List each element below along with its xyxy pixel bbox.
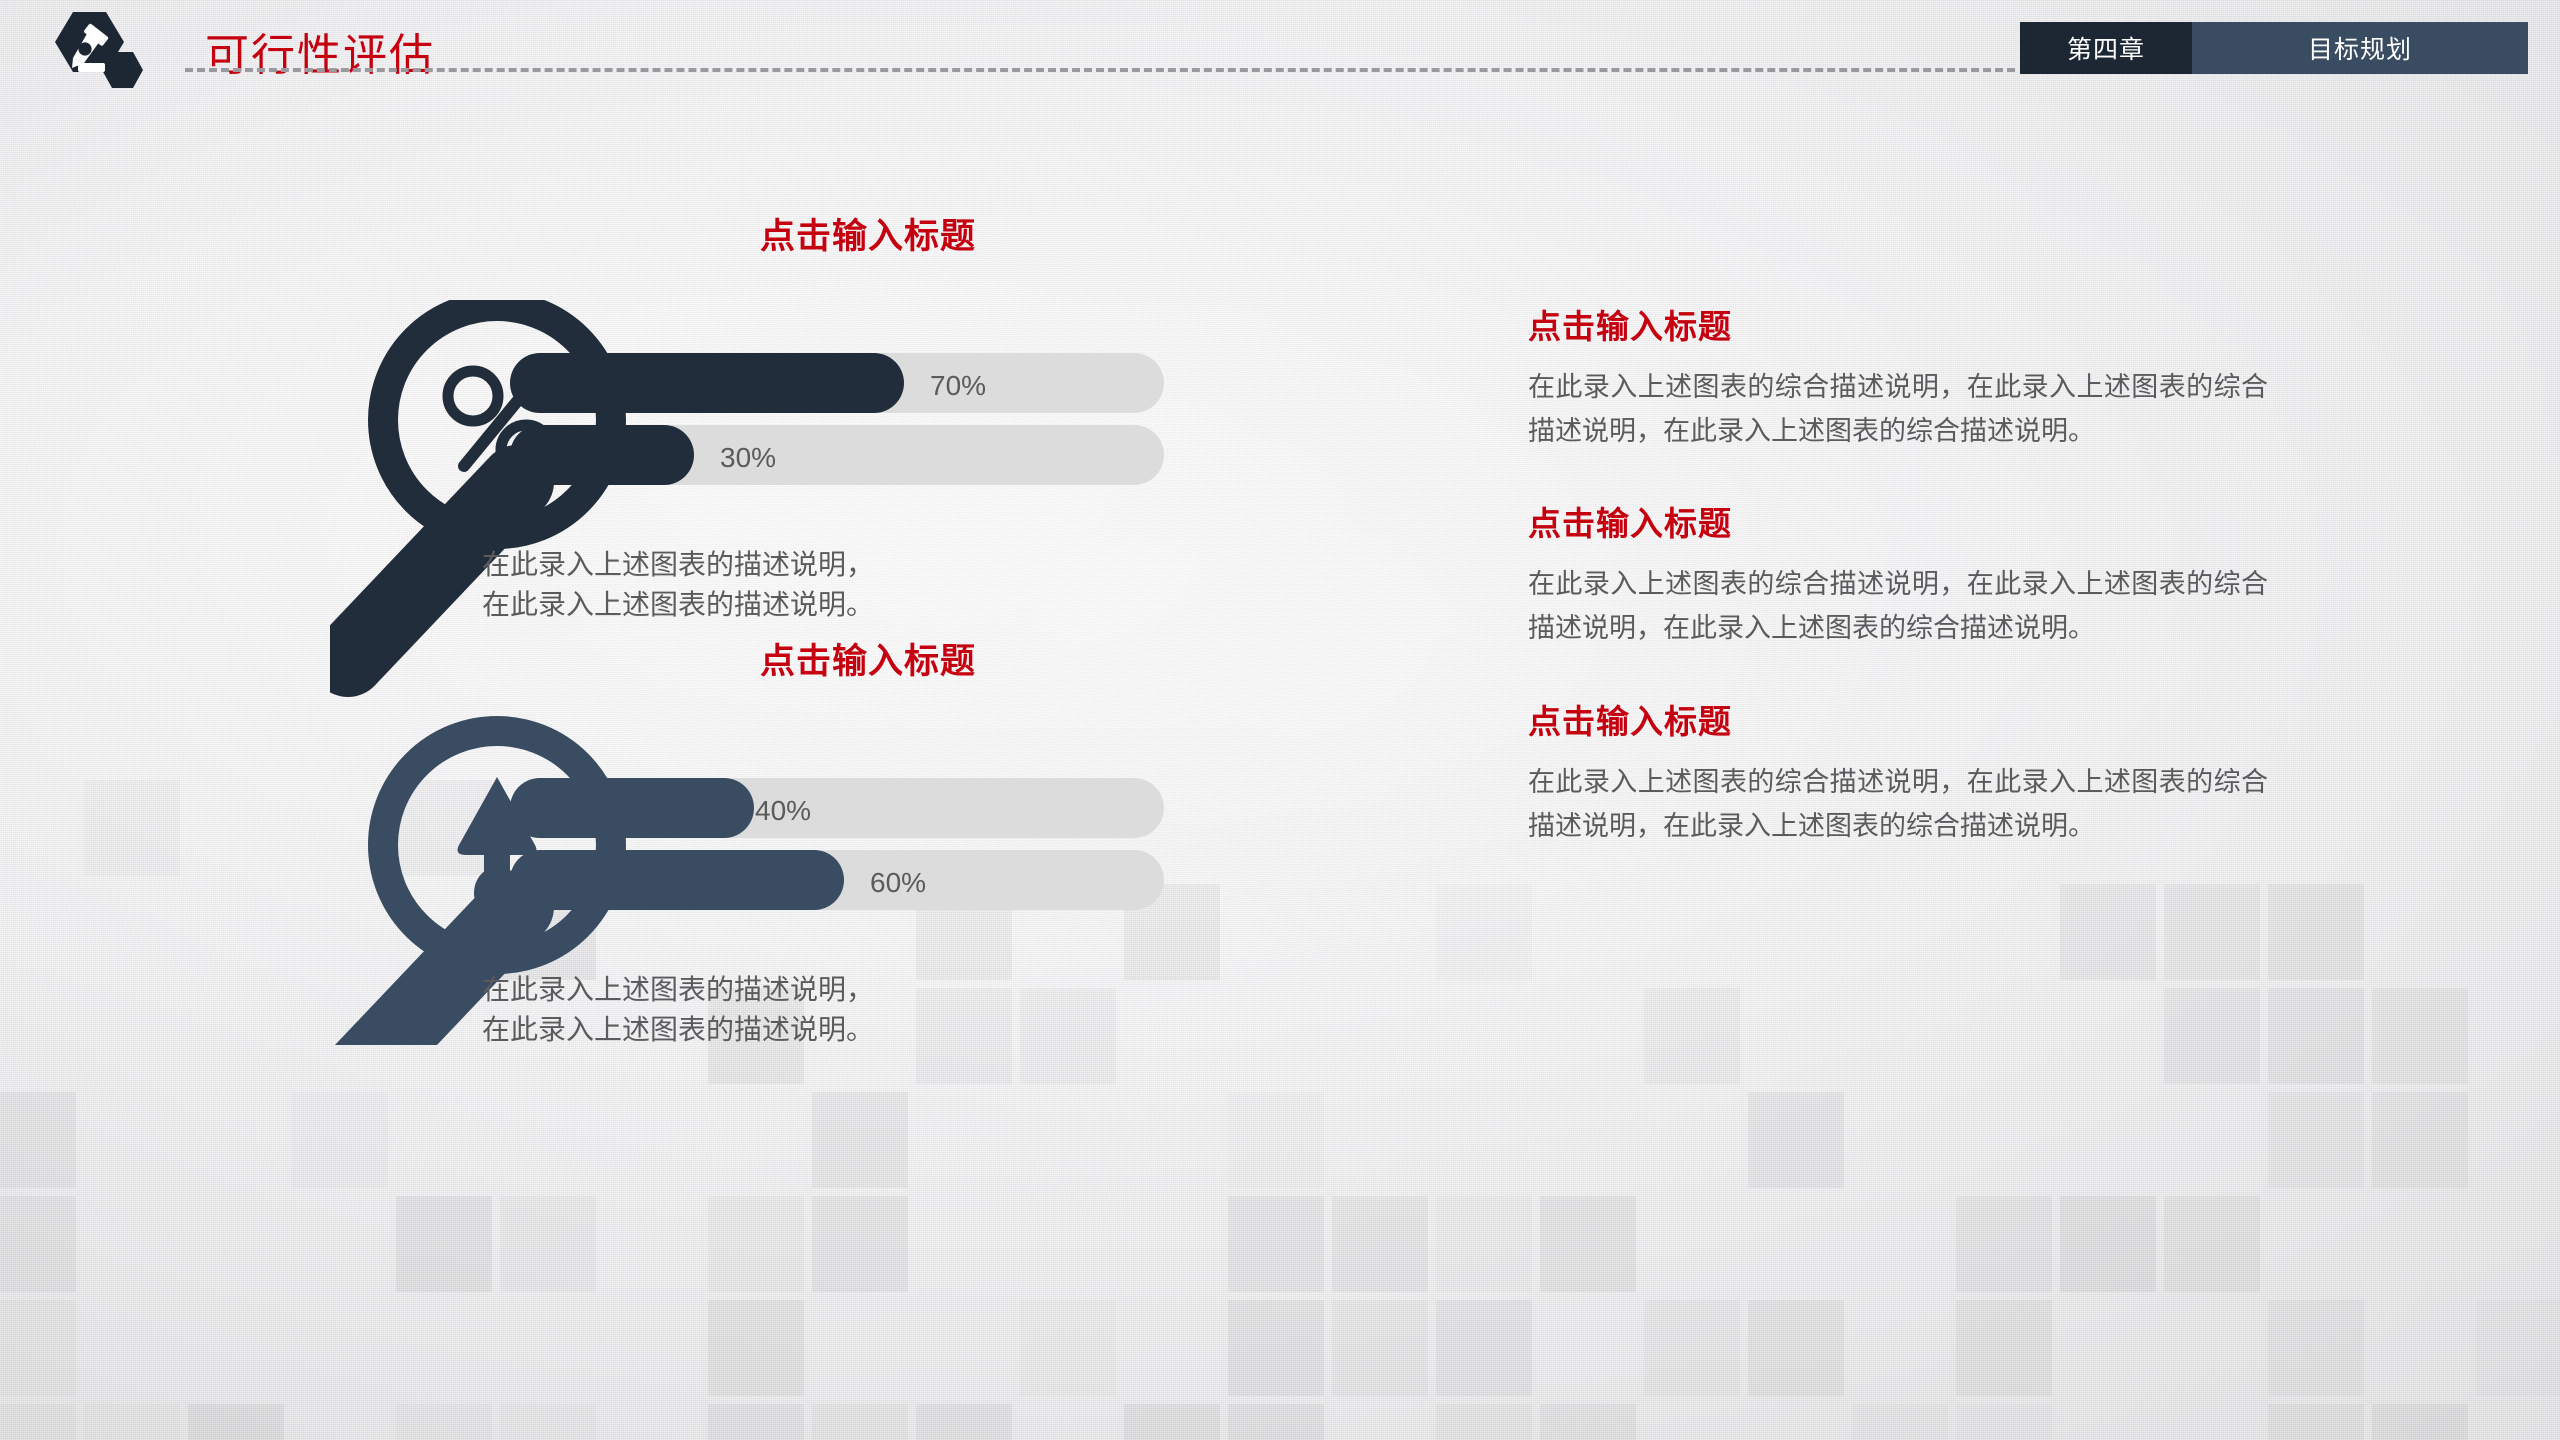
bar-value-label: 70% bbox=[930, 370, 986, 402]
summary-block: 点击输入标题 在此录入上述图表的综合描述说明，在此录入上述图表的综合描述说明，在… bbox=[1528, 695, 2288, 848]
bar-value-label: 40% bbox=[755, 795, 811, 827]
summary-body: 在此录入上述图表的综合描述说明，在此录入上述图表的综合描述说明，在此录入上述图表… bbox=[1528, 563, 2268, 650]
metric-group-growth: 点击输入标题 40% 60% 在此录入上述图表的描述说明， 在此录入上述图表的描… bbox=[330, 545, 1430, 1045]
summary-title: 点击输入标题 bbox=[1528, 497, 2288, 545]
summary-title: 点击输入标题 bbox=[1528, 695, 2288, 743]
bar-fill bbox=[510, 850, 844, 910]
slide-body: 点击输入标题 70% 30% 在此录入上述图表的描述说明， 在此录入上述图表的描… bbox=[0, 0, 2560, 1440]
bar-fill bbox=[510, 778, 754, 838]
metric-description: 在此录入上述图表的描述说明， 在此录入上述图表的描述说明。 bbox=[482, 970, 874, 1050]
bar-value-label: 60% bbox=[870, 867, 926, 899]
summary-column: 点击输入标题 在此录入上述图表的综合描述说明，在此录入上述图表的综合描述说明，在… bbox=[1528, 300, 2288, 892]
summary-block: 点击输入标题 在此录入上述图表的综合描述说明，在此录入上述图表的综合描述说明，在… bbox=[1528, 497, 2288, 650]
summary-body: 在此录入上述图表的综合描述说明，在此录入上述图表的综合描述说明，在此录入上述图表… bbox=[1528, 366, 2268, 453]
metric-title: 点击输入标题 bbox=[760, 208, 976, 259]
summary-body: 在此录入上述图表的综合描述说明，在此录入上述图表的综合描述说明，在此录入上述图表… bbox=[1528, 761, 2268, 848]
bar-value-label: 30% bbox=[720, 442, 776, 474]
bar-fill bbox=[510, 353, 904, 413]
metric-title: 点击输入标题 bbox=[760, 633, 976, 684]
summary-title: 点击输入标题 bbox=[1528, 300, 2288, 348]
bar-track bbox=[630, 425, 1164, 485]
summary-block: 点击输入标题 在此录入上述图表的综合描述说明，在此录入上述图表的综合描述说明，在… bbox=[1528, 300, 2288, 453]
